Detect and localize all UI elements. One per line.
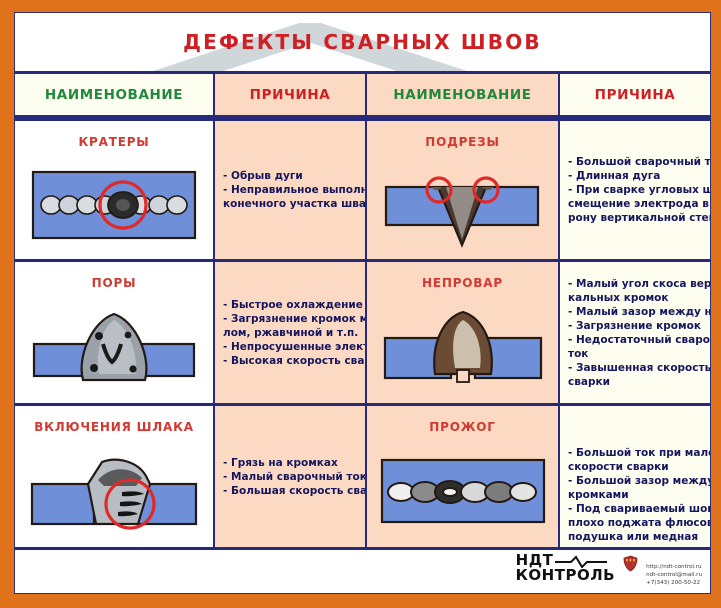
cause-line: - Большой сварочный ток <box>568 155 706 169</box>
defect-cell-neprovar: НЕПРОВАР <box>367 262 560 403</box>
header-cell-cause-left: ПРИЧИНА <box>215 74 367 115</box>
cause-line: смещение электрода в сто- <box>568 197 706 211</box>
cause-line: - Высокая скорость сварки <box>223 354 361 368</box>
cause-line: - Большой зазор между <box>568 474 706 488</box>
logo-kontrol-text: КОНТРОЛЬ <box>516 568 615 583</box>
cause-line: - Быстрое охлаждение шва <box>223 298 361 312</box>
table-header-row: НАИМЕНОВАНИЕ ПРИЧИНА НАИМЕНОВАНИЕ ПРИЧИН… <box>15 71 710 118</box>
table-row: КРАТЕРЫ <box>15 118 710 262</box>
cause-line: - Загрязнение кромок мас- <box>223 312 361 326</box>
cause-line: - Загрязнение кромок <box>568 319 706 333</box>
defect-cell-kratery: КРАТЕРЫ <box>15 121 215 259</box>
cause-line: - Малый зазор между ними <box>568 305 706 319</box>
defect-title: ПРОЖОГ <box>367 420 558 434</box>
cause-cell-pory: - Быстрое охлаждение шва - Загрязнение к… <box>215 262 367 403</box>
page-title: ДЕФЕКТЫ СВАРНЫХ ШВОВ <box>183 30 542 54</box>
weld-undercut-figure <box>367 157 558 253</box>
header-label-name-left: НАИМЕНОВАНИЕ <box>45 87 183 103</box>
cause-line: - Завышенная скорость <box>568 361 706 375</box>
cause-line: лом, ржавчиной и т.п. <box>223 326 361 340</box>
cause-line: - Недостаточный сварочный <box>568 333 706 347</box>
cause-line: - Малый угол скоса верти- <box>568 277 706 291</box>
defect-title: ПОДРЕЗЫ <box>367 135 558 149</box>
header-cell-name-right: НАИМЕНОВАНИЕ <box>367 74 560 115</box>
header-label-cause-right: ПРИЧИНА <box>595 87 676 103</box>
cause-cell-prozhog: - Большой ток при малой скорости сварки … <box>560 406 710 547</box>
cause-list: - Быстрое охлаждение шва - Загрязнение к… <box>223 298 361 368</box>
cause-line: ток <box>568 347 706 361</box>
cause-line: кромками <box>568 488 706 502</box>
defect-cell-podrezy: ПОДРЕЗЫ <box>367 121 560 259</box>
cause-line: - Под свариваемый шов <box>568 502 706 516</box>
logo-shield-icon <box>623 553 638 577</box>
cause-line: - Большой ток при малой <box>568 446 706 460</box>
cause-line: рону вертикальной стенки <box>568 211 706 225</box>
cause-line: - При сварке угловых швов - <box>568 183 706 197</box>
defect-cell-prozhog: ПРОЖОГ <box>367 406 560 547</box>
cause-list: - Большой сварочный ток - Длинная дуга -… <box>568 155 706 225</box>
cause-cell-neprovar: - Малый угол скоса верти- кальных кромок… <box>560 262 710 403</box>
logo-website: http://ndt-control.ru <box>646 563 702 571</box>
cause-line: скорости сварки <box>568 460 706 474</box>
cause-line: конечного участка шва <box>223 197 361 211</box>
table-row: ПОРЫ <box>15 262 710 406</box>
defects-table: НАИМЕНОВАНИЕ ПРИЧИНА НАИМЕНОВАНИЕ ПРИЧИН… <box>15 71 710 589</box>
cause-line: - Неправильное выполнение <box>223 183 361 197</box>
logo-contacts: http://ndt-control.ru ndt-control@mail.r… <box>646 553 702 587</box>
header-cell-cause-right: ПРИЧИНА <box>560 74 710 115</box>
weld-slag-inclusion-figure <box>15 442 213 541</box>
poster-body: ND ДЕФЕКТЫ СВАРНЫХ ШВОВ НАИМЕНОВАНИЕ ПРИ… <box>14 12 711 594</box>
cause-line: подушка или медная <box>568 530 706 544</box>
cause-list: - Обрыв дуги - Неправильное выполнение к… <box>223 169 361 211</box>
company-logo: НДТ КОНТРОЛЬ http://nd <box>516 553 702 587</box>
cause-line: - Малый сварочный ток <box>223 470 361 484</box>
title-band: ДЕФЕКТЫ СВАРНЫХ ШВОВ <box>15 13 710 71</box>
defect-cell-vkljuchenija-shlaka: ВКЛЮЧЕНИЯ ШЛАКА <box>15 406 215 547</box>
cause-line: - Обрыв дуги <box>223 169 361 183</box>
table-row: ВКЛЮЧЕНИЯ ШЛАКА <box>15 406 710 550</box>
cause-cell-podrezy: - Большой сварочный ток - Длинная дуга -… <box>560 121 710 259</box>
cause-line: - Длинная дуга <box>568 169 706 183</box>
defect-title: НЕПРОВАР <box>367 276 558 290</box>
header-label-cause-left: ПРИЧИНА <box>250 87 331 103</box>
cause-list: - Грязь на кромках - Малый сварочный ток… <box>223 456 361 498</box>
poster-frame: ND ДЕФЕКТЫ СВАРНЫХ ШВОВ НАИМЕНОВАНИЕ ПРИ… <box>0 0 721 608</box>
cause-line: плохо поджата флюсовая <box>568 516 706 530</box>
logo-email: ndt-control@mail.ru <box>646 571 702 579</box>
logo-phone: +7(343) 200-50-22 <box>646 579 702 587</box>
cause-line: - Большая скорость сварки <box>223 484 361 498</box>
cause-line: - Грязь на кромках <box>223 456 361 470</box>
cause-list: - Малый угол скоса верти- кальных кромок… <box>568 277 706 389</box>
cause-list: - Большой ток при малой скорости сварки … <box>568 446 706 547</box>
header-label-name-right: НАИМЕНОВАНИЕ <box>393 87 531 103</box>
defect-title: ПОРЫ <box>15 276 213 290</box>
cause-line: кальных кромок <box>568 291 706 305</box>
weld-crater-figure <box>15 157 213 253</box>
cause-cell-kratery: - Обрыв дуги - Неправильное выполнение к… <box>215 121 367 259</box>
weld-lack-of-fusion-figure <box>367 298 558 397</box>
defect-cell-pory: ПОРЫ <box>15 262 215 403</box>
defect-title: КРАТЕРЫ <box>15 135 213 149</box>
cause-line: сварки <box>568 375 706 389</box>
weld-burn-through-figure <box>367 442 558 541</box>
defect-title: ВКЛЮЧЕНИЯ ШЛАКА <box>15 420 213 434</box>
cause-cell-vkljuchenija-shlaka: - Грязь на кромках - Малый сварочный ток… <box>215 406 367 547</box>
cause-line: подкладка <box>568 544 706 547</box>
weld-porosity-figure <box>15 298 213 397</box>
logo-wordmark: НДТ КОНТРОЛЬ <box>516 553 615 583</box>
header-cell-name-left: НАИМЕНОВАНИЕ <box>15 74 215 115</box>
cause-line: - Непросушенные электроды <box>223 340 361 354</box>
